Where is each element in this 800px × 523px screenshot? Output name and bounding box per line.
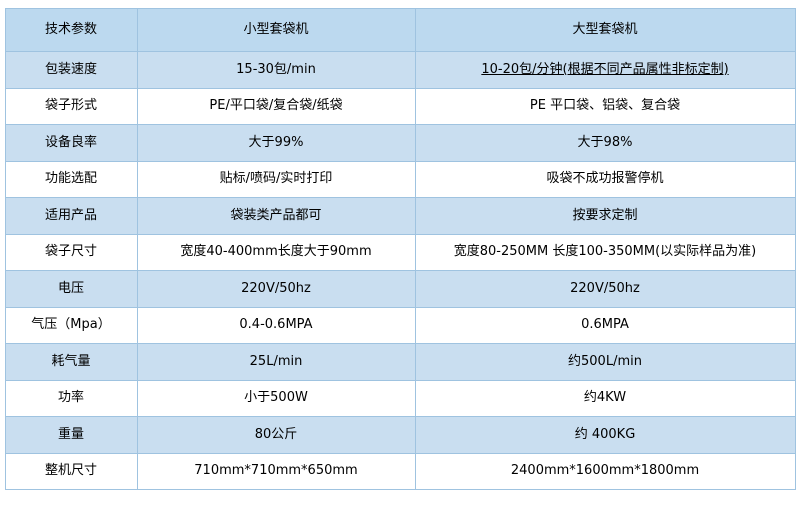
table-row: 适用产品 袋装类产品都可 按要求定制 [5,198,795,235]
table-row: 功率 小于500W 约4KW [5,380,795,417]
table-row: 袋子尺寸 宽度40-400mm长度大于90mm 宽度80-250MM 长度100… [5,234,795,271]
row-value-small: 小于500W [137,380,415,417]
row-value-large: 0.6MPA [415,307,795,344]
row-value-large: 吸袋不成功报警停机 [415,161,795,198]
row-label: 重量 [5,417,137,454]
specification-table: 技术参数 小型套袋机 大型套袋机 包装速度 15-30包/min 10-20包/… [5,8,796,490]
table-row: 整机尺寸 710mm*710mm*650mm 2400mm*1600mm*180… [5,453,795,490]
column-header-parameters: 技术参数 [5,9,137,52]
row-value-large: PE 平口袋、铝袋、复合袋 [415,88,795,125]
table-row: 重量 80公斤 约 400KG [5,417,795,454]
row-value-large: 按要求定制 [415,198,795,235]
row-label: 耗气量 [5,344,137,381]
row-value-small: 220V/50hz [137,271,415,308]
table-row: 袋子形式 PE/平口袋/复合袋/纸袋 PE 平口袋、铝袋、复合袋 [5,88,795,125]
table-row: 气压（Mpa） 0.4-0.6MPA 0.6MPA [5,307,795,344]
row-value-large: 2400mm*1600mm*1800mm [415,453,795,490]
column-header-small-machine: 小型套袋机 [137,9,415,52]
row-value-small: 15-30包/min [137,52,415,89]
row-label: 包装速度 [5,52,137,89]
table-header-row: 技术参数 小型套袋机 大型套袋机 [5,9,795,52]
row-value-small: 袋装类产品都可 [137,198,415,235]
table-row: 耗气量 25L/min 约500L/min [5,344,795,381]
row-label: 气压（Mpa） [5,307,137,344]
row-label: 电压 [5,271,137,308]
table-row: 功能选配 贴标/喷码/实时打印 吸袋不成功报警停机 [5,161,795,198]
row-value-small: 宽度40-400mm长度大于90mm [137,234,415,271]
row-label: 适用产品 [5,198,137,235]
row-value-small: 0.4-0.6MPA [137,307,415,344]
table-row: 设备良率 大于99% 大于98% [5,125,795,162]
row-value-large: 约 400KG [415,417,795,454]
row-value-small: 贴标/喷码/实时打印 [137,161,415,198]
row-value-small: 710mm*710mm*650mm [137,453,415,490]
row-label: 袋子尺寸 [5,234,137,271]
table-row: 包装速度 15-30包/min 10-20包/分钟(根据不同产品属性非标定制) [5,52,795,89]
row-label: 袋子形式 [5,88,137,125]
row-value-large: 大于98% [415,125,795,162]
row-value-large: 10-20包/分钟(根据不同产品属性非标定制) [415,52,795,89]
row-value-small: 大于99% [137,125,415,162]
column-header-large-machine: 大型套袋机 [415,9,795,52]
row-value-large: 约500L/min [415,344,795,381]
row-value-large: 220V/50hz [415,271,795,308]
row-label: 设备良率 [5,125,137,162]
row-label: 功率 [5,380,137,417]
row-value-small: 80公斤 [137,417,415,454]
row-value-small: PE/平口袋/复合袋/纸袋 [137,88,415,125]
row-value-large: 宽度80-250MM 长度100-350MM(以实际样品为准) [415,234,795,271]
row-label: 整机尺寸 [5,453,137,490]
table-row: 电压 220V/50hz 220V/50hz [5,271,795,308]
row-label: 功能选配 [5,161,137,198]
row-value-large: 约4KW [415,380,795,417]
row-value-small: 25L/min [137,344,415,381]
